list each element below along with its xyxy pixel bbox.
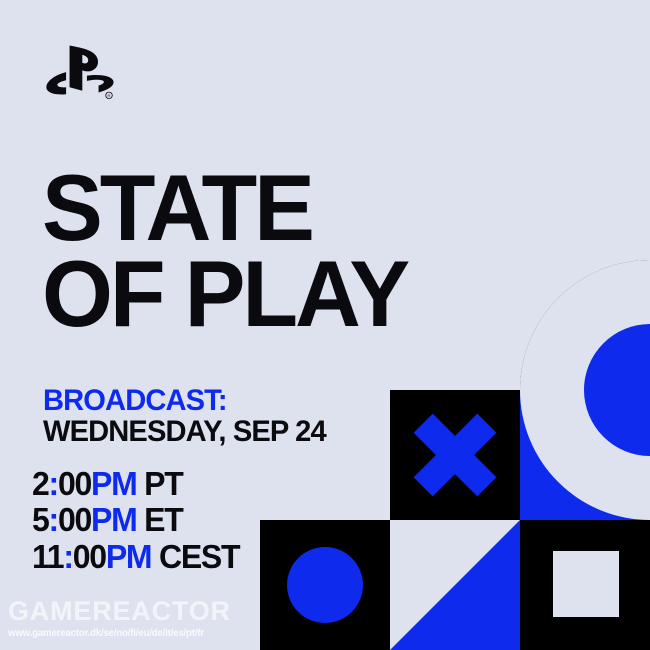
time-hour-pt: 2 [32,465,49,502]
headline-line-2: OF PLAY [42,254,407,334]
time-hour-et: 5 [32,501,49,538]
time-meridiem-pt: PM [91,465,136,502]
watermark-brand: GAMEREACTOR [8,598,231,625]
state-of-play-poster: R STATE OF PLAY BROADCAST: WEDNESDAY, SE… [0,0,650,650]
broadcast-block: BROADCAST: WEDNESDAY, SEP 24 [43,386,326,448]
time-minutes-et: 00 [58,501,91,538]
time-zone-et: ET [144,501,182,538]
watermark-url: www.gamereactor.dk/se/no/fi/eu/de/it/es/… [8,628,213,639]
time-minutes-pt: 00 [58,465,91,502]
headline-line-1: STATE [42,168,407,248]
time-minutes-cest: 00 [73,538,106,575]
playstation-logo: R [44,42,116,100]
square-white-on-black [520,520,650,650]
svg-text:R: R [108,93,111,98]
page-title: STATE OF PLAY [42,168,407,334]
triangle-blue-diagonal [390,520,520,650]
time-meridiem-cest: PM [106,538,151,575]
time-zone-pt: PT [144,465,182,502]
time-zone-cest: CEST [159,538,239,575]
broadcast-times-list: 2:00PM PT 5:00PM ET 11:00PM CEST [32,466,239,575]
time-row-pt: 2:00PM PT [32,466,239,502]
time-row-et: 5:00PM ET [32,502,239,538]
broadcast-date: WEDNESDAY, SEP 24 [43,417,326,448]
cross-x-blue-on-black [390,390,520,520]
quarter-ring-black-top-right [520,258,650,520]
time-hour-cest: 11 [32,538,63,575]
time-colon-et: : [49,501,58,538]
watermark: GAMEREACTOR www.gamereactor.dk/se/no/fi/… [8,598,231,639]
time-row-cest: 11:00PM CEST [32,539,239,575]
time-colon-cest: : [63,538,72,575]
time-meridiem-et: PM [91,501,136,538]
broadcast-label: BROADCAST: [43,386,326,417]
circle-blue-on-black [260,520,390,650]
time-colon-pt: : [49,465,58,502]
quarter-ring-blue-white [520,260,650,520]
